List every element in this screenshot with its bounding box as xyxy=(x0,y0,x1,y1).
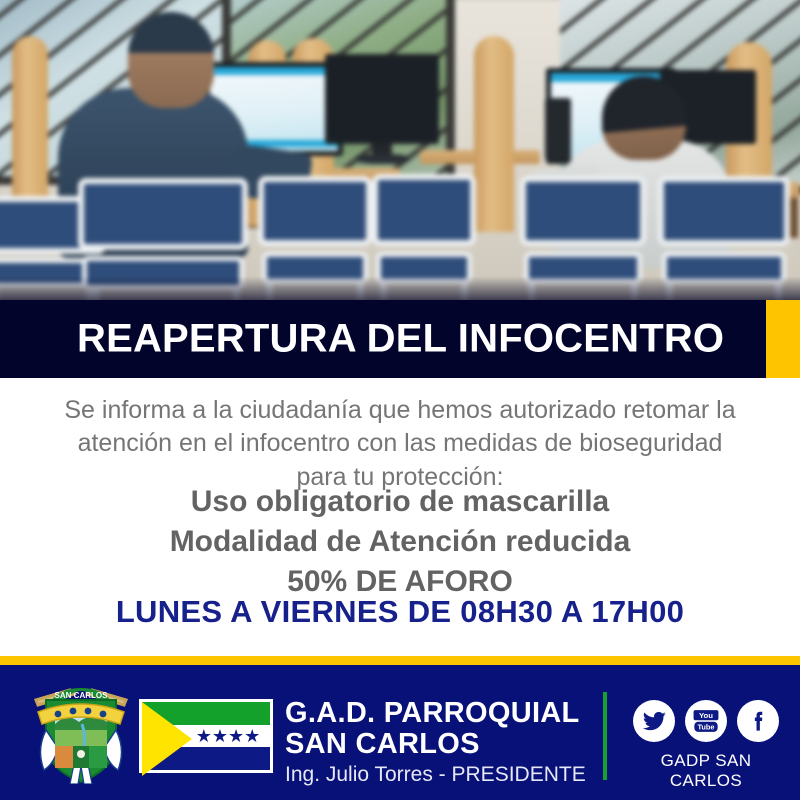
header-photo xyxy=(0,0,800,302)
chair-back xyxy=(78,178,248,250)
person-right-head xyxy=(602,76,686,160)
svg-text:You: You xyxy=(699,711,713,720)
footer-vertical-divider xyxy=(603,692,607,780)
monitor-screen xyxy=(330,59,434,139)
san-carlos-coat-of-arms-icon: SAN CARLOS xyxy=(30,672,132,784)
monitor-center xyxy=(325,54,439,144)
organisation-block: G.A.D. PARROQUIAL SAN CARLOS Ing. Julio … xyxy=(285,698,586,788)
crest-banner-text: SAN CARLOS xyxy=(55,691,109,700)
measures-list: Uso obligatorio de mascarilla Modalidad … xyxy=(0,482,800,602)
org-name-line1: G.A.D. PARROQUIAL xyxy=(285,698,586,729)
facebook-icon[interactable] xyxy=(737,700,779,742)
measure-item-2: Modalidad de Atención reducida xyxy=(0,522,800,562)
title-banner: REAPERTURA DEL INFOCENTRO xyxy=(0,300,800,378)
san-carlos-parish-flag-icon: ★★★★ xyxy=(139,699,273,773)
youtube-icon[interactable]: You Tube xyxy=(685,700,727,742)
photo-bottom-fade xyxy=(0,276,800,302)
content-section: Se informa a la ciudadanía que hemos aut… xyxy=(0,378,800,656)
intro-paragraph: Se informa a la ciudadanía que hemos aut… xyxy=(0,394,800,494)
chair-back xyxy=(372,174,476,246)
banner-accent-bar xyxy=(766,300,800,378)
partition xyxy=(12,36,48,216)
poster: REAPERTURA DEL INFOCENTRO Se informa a l… xyxy=(0,0,800,800)
svg-text:Tube: Tube xyxy=(697,723,714,732)
partition xyxy=(474,36,514,232)
computer-tower xyxy=(545,98,571,160)
org-name-line2: SAN CARLOS xyxy=(285,729,586,760)
monitor-base xyxy=(356,154,410,164)
org-president: Ing. Julio Torres - PRESIDENTE xyxy=(285,762,586,788)
yellow-divider xyxy=(0,656,800,665)
person-left-head xyxy=(128,12,214,108)
page-title: REAPERTURA DEL INFOCENTRO xyxy=(77,317,724,362)
social-handle: GADP SAN CARLOS xyxy=(630,751,782,791)
social-icon-row: You Tube xyxy=(630,700,782,742)
chair-back xyxy=(520,176,646,246)
flag-yellow-triangle xyxy=(142,702,192,776)
chair-back xyxy=(258,176,372,246)
screen-titlebar xyxy=(210,67,338,75)
twitter-icon[interactable] xyxy=(633,700,675,742)
flag-stars: ★★★★ xyxy=(190,725,266,748)
schedule-text: LUNES A VIERNES DE 08H30 A 17H00 xyxy=(0,594,800,630)
social-block: You Tube GADP SAN CARLOS xyxy=(630,700,782,791)
chair-back xyxy=(658,176,790,246)
photo-scene xyxy=(0,0,800,302)
measure-item-1: Uso obligatorio de mascarilla xyxy=(0,482,800,522)
